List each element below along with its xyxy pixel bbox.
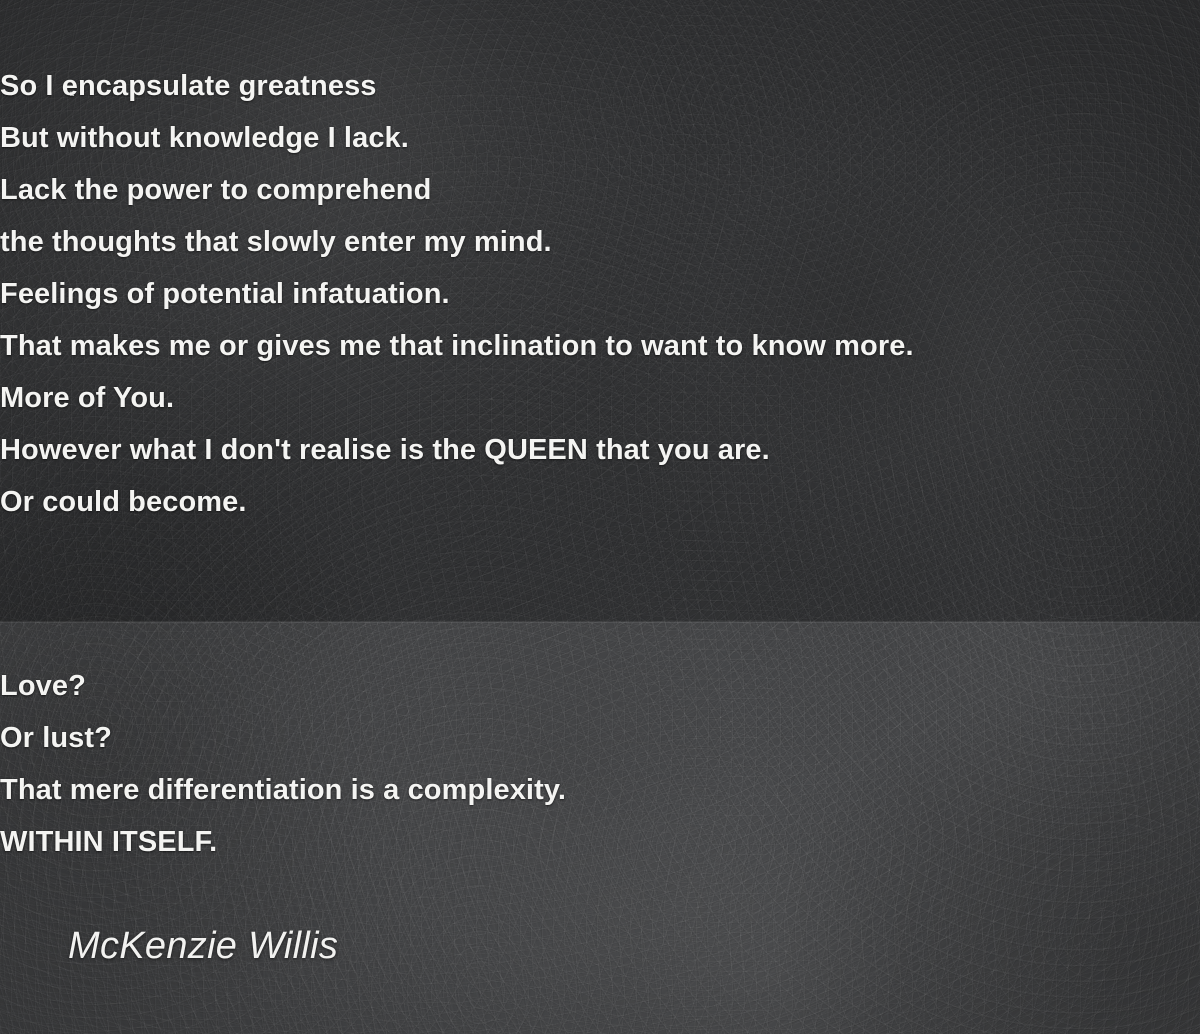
poem-line: Feelings of potential infatuation. [0,268,1100,320]
poem-line: More of You. [0,372,1100,424]
poem-line: That makes me or gives me that inclinati… [0,320,1100,372]
poem-image-card: . So I encapsulate greatness But without… [0,0,1200,1034]
poem-line: WITHIN ITSELF. [0,816,1100,868]
poem-line: So I encapsulate greatness [0,60,1100,112]
band-seam-divider [0,621,1200,623]
stanza-two: Love? Or lust? That mere differentiation… [0,660,1100,868]
author-signature: McKenzie Willis [68,925,338,968]
poem-line: However what I don't realise is the QUEE… [0,424,1100,476]
poem-line: But without knowledge I lack. [0,112,1100,164]
stanza-one: So I encapsulate greatness But without k… [0,60,1100,528]
poem-line: That mere differentiation is a complexit… [0,764,1100,816]
poem-line: the thoughts that slowly enter my mind. [0,216,1100,268]
poem-line: Or lust? [0,712,1100,764]
poem-line: Love? [0,660,1100,712]
poem-line: Or could become. [0,476,1100,528]
poem-line: Lack the power to comprehend [0,164,1100,216]
